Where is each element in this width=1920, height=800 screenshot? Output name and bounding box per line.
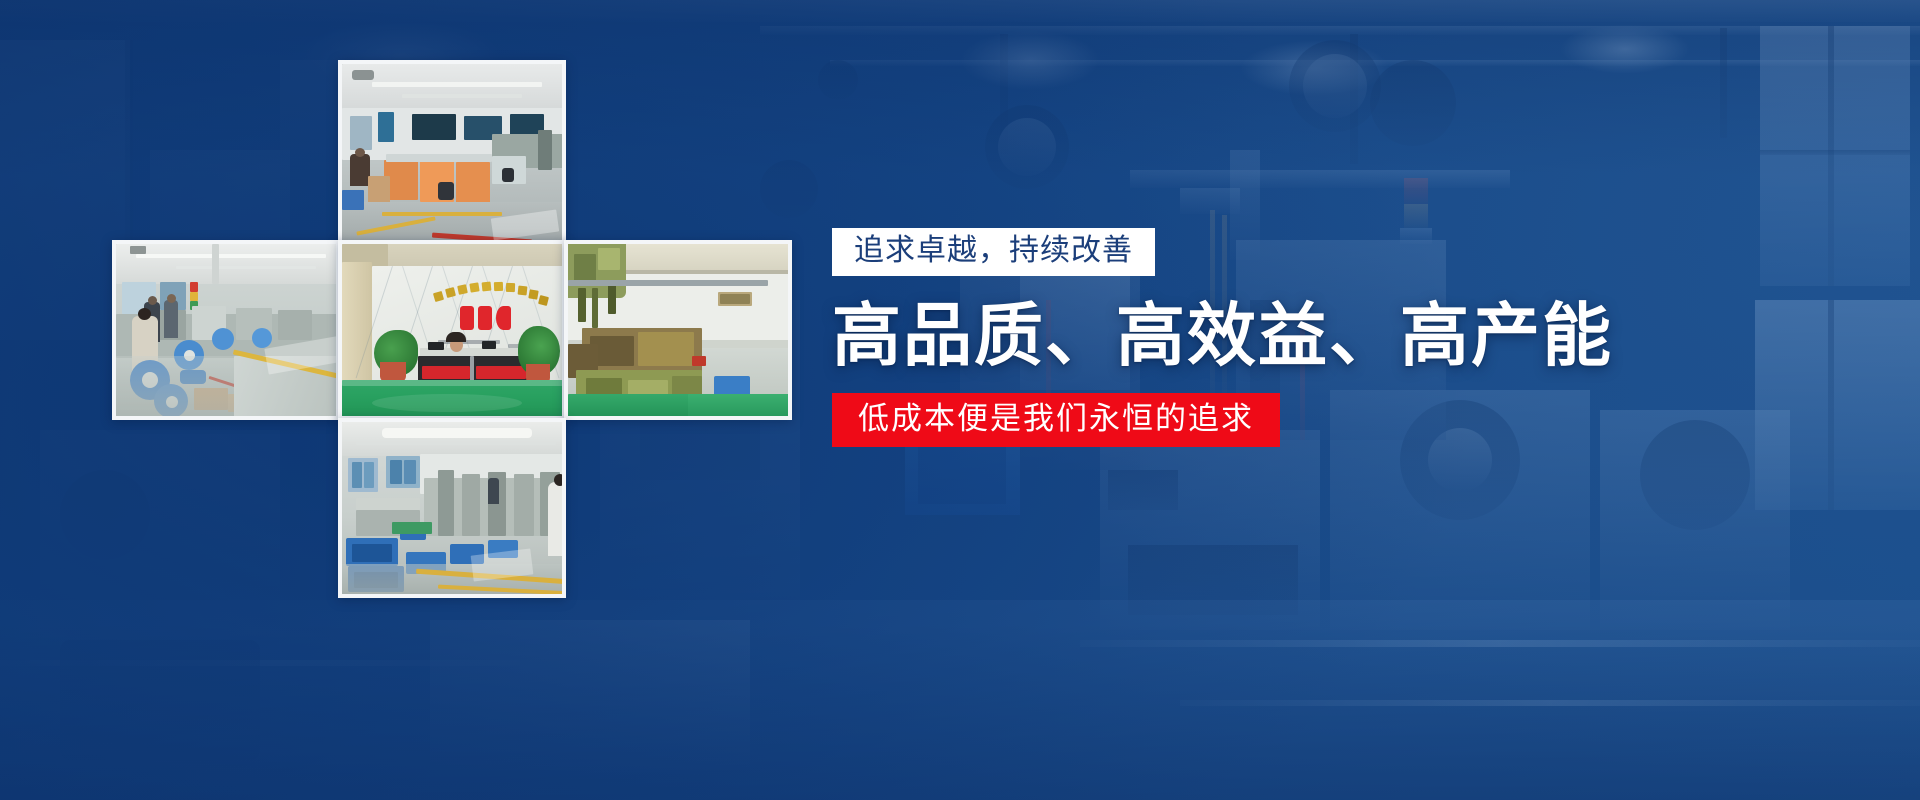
hero-tagline: 追求卓越，持续改善 bbox=[832, 228, 1155, 276]
collage-photo-top[interactable] bbox=[338, 60, 566, 246]
collage-photo-center-lobby[interactable] bbox=[338, 240, 566, 420]
collage-photo-bottom[interactable] bbox=[338, 418, 566, 598]
hero-headline: 高品质、高效益、高产能 bbox=[832, 296, 1732, 377]
subline-row: 低成本便是我们永恒的追求 bbox=[832, 393, 1732, 447]
tagline-row: 追求卓越，持续改善 bbox=[832, 228, 1732, 276]
hero-subline: 低成本便是我们永恒的追求 bbox=[832, 393, 1280, 447]
hero-text-block: 追求卓越，持续改善 高品质、高效益、高产能 低成本便是我们永恒的追求 bbox=[832, 228, 1732, 447]
photo-collage bbox=[0, 0, 820, 800]
collage-photo-left[interactable] bbox=[112, 240, 340, 420]
factory-hero-banner: 追求卓越，持续改善 高品质、高效益、高产能 低成本便是我们永恒的追求 bbox=[0, 0, 1920, 800]
collage-photo-right[interactable] bbox=[564, 240, 792, 420]
